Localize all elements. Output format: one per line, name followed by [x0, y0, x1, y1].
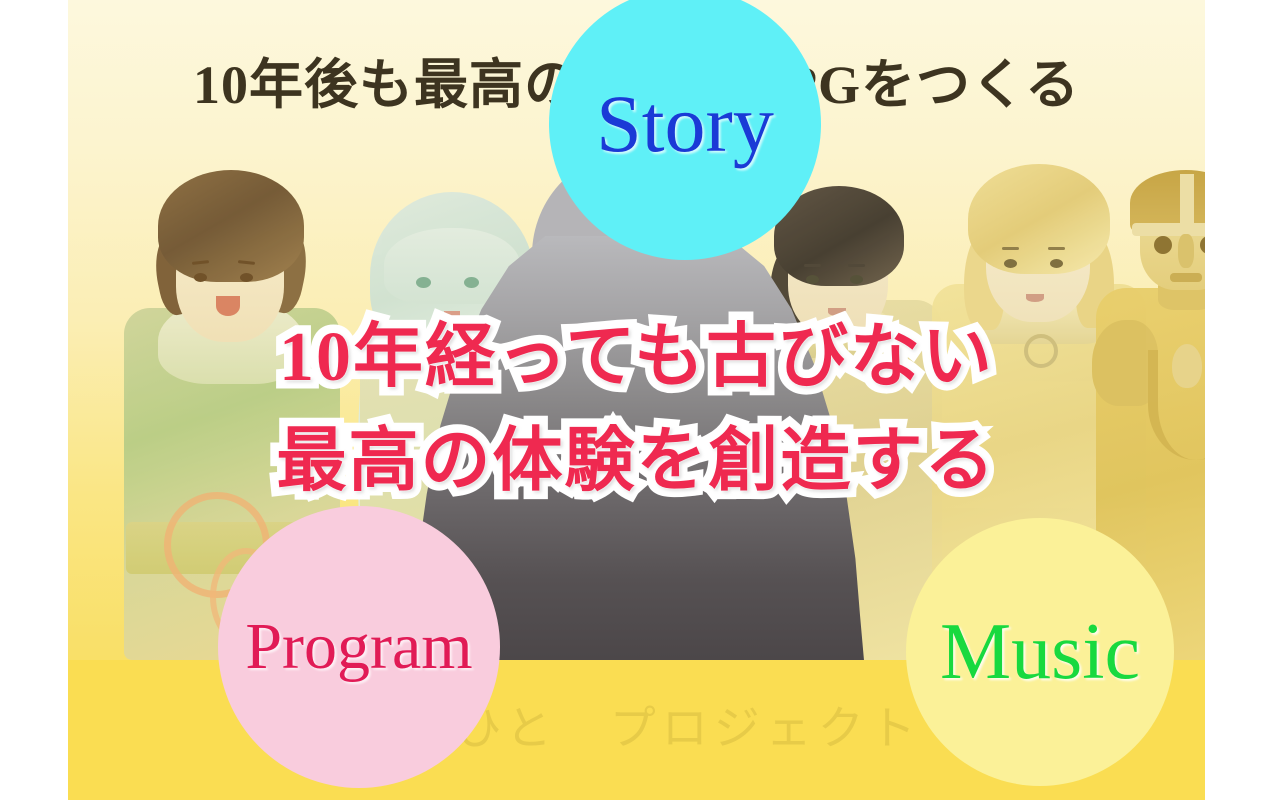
- promo-banner: まだひと プロジェクト 10年後も最高の面白いRPGをつくる 10年経っても古び…: [0, 0, 1280, 800]
- artwork-canvas: まだひと プロジェクト 10年後も最高の面白いRPGをつくる 10年経っても古び…: [68, 0, 1205, 800]
- pillar-bubble-music[interactable]: Music: [906, 518, 1174, 786]
- main-tagline-line-1: 10年経っても古びない: [68, 306, 1205, 410]
- pillar-label-story: Story: [596, 83, 774, 165]
- pillar-bubble-story[interactable]: Story: [549, 0, 821, 260]
- pillar-label-music: Music: [940, 612, 1140, 692]
- main-tagline: 10年経っても古びない 最高の体験を創造する: [68, 306, 1205, 513]
- main-tagline-line-2: 最高の体験を創造する: [68, 410, 1205, 514]
- pillar-label-program: Program: [245, 614, 472, 680]
- pillar-bubble-program[interactable]: Program: [218, 506, 500, 788]
